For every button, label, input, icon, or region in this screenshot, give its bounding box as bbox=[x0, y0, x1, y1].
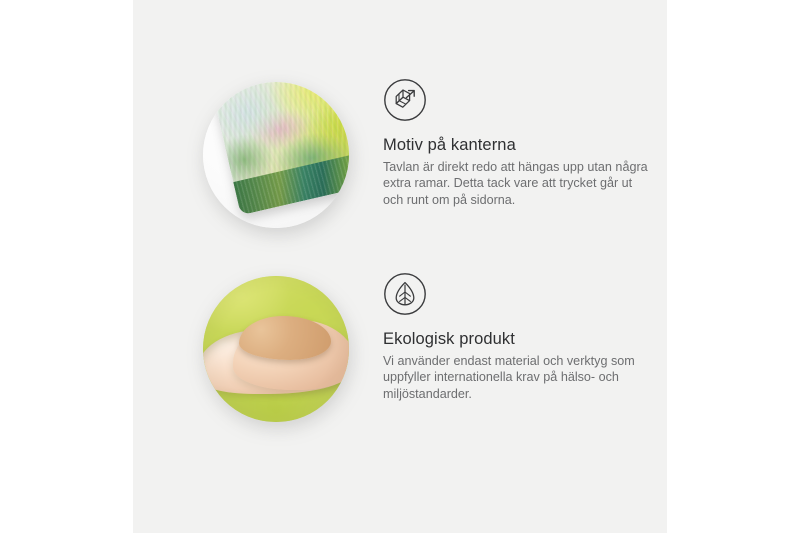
feature-text-column: Motiv på kanterna Tavlan är direkt redo … bbox=[383, 78, 663, 208]
feature-text-column: Ekologisk produkt Vi använder endast mat… bbox=[383, 272, 663, 402]
leaf-icon bbox=[383, 272, 427, 316]
hands-with-wood-chips-photo bbox=[203, 276, 349, 422]
feature-description: Tavlan är direkt redo att hängas upp uta… bbox=[383, 159, 651, 208]
feature-block-ekologisk-produkt: Ekologisk produkt Vi använder endast mat… bbox=[133, 272, 667, 452]
canvas-wrap-edge-icon bbox=[383, 78, 427, 122]
product-feature-panel: Motiv på kanterna Tavlan är direkt redo … bbox=[0, 0, 800, 533]
feature-image-canvas-corner bbox=[203, 82, 349, 228]
feature-title: Ekologisk produkt bbox=[383, 329, 663, 349]
content-panel: Motiv på kanterna Tavlan är direkt redo … bbox=[133, 0, 667, 533]
canvas-corner-photo bbox=[203, 82, 349, 228]
feature-description: Vi använder endast material och verktyg … bbox=[383, 353, 651, 402]
feature-title: Motiv på kanterna bbox=[383, 135, 663, 155]
photo-vignette bbox=[203, 276, 349, 422]
feature-block-motiv-pa-kanterna: Motiv på kanterna Tavlan är direkt redo … bbox=[133, 78, 667, 258]
feature-image-hands-wood-chips bbox=[203, 276, 349, 422]
